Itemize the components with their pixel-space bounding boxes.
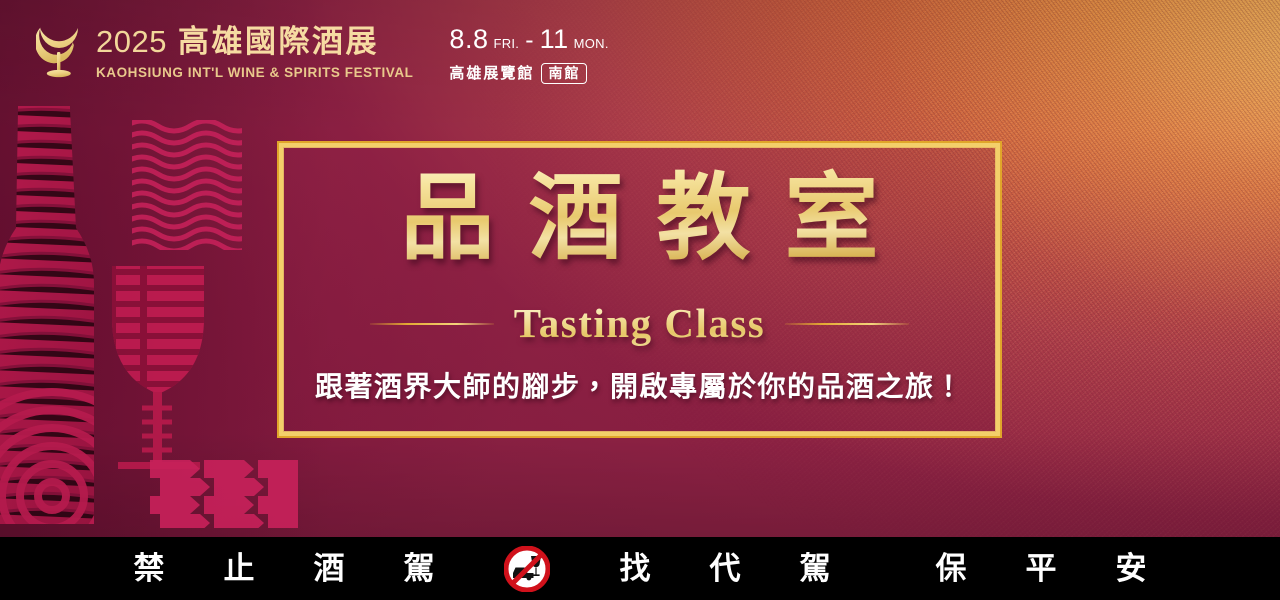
festival-date-venue: 8.8 FRI. - 11 MON. 高雄展覽館 南館 [449, 22, 608, 84]
tagline: 跟著酒界大師的腳步，開啟專屬於你的品酒之旅！ [279, 371, 1000, 405]
warning-char: 駕 [770, 553, 860, 584]
date-end-number: 11 [540, 26, 569, 53]
warning-char: 安 [1086, 553, 1176, 584]
warning-char: 禁 [104, 553, 194, 584]
festival-year: 2025 [96, 26, 167, 57]
crescent-wine-glass-icon [36, 22, 82, 80]
subtitle-en-row: Tasting Class [279, 301, 1000, 346]
venue-hall-badge: 南館 [541, 63, 587, 84]
warning-phrase-3: 保 平 安 [906, 553, 1176, 584]
main-content-panel: 品酒教室 Tasting Class 跟著酒界大師的腳步，開啟專屬於你的品酒之旅… [277, 141, 1002, 438]
page-title: 品酒教室 [279, 167, 1000, 272]
warning-char: 找 [590, 553, 680, 584]
divider-rule-left [370, 323, 494, 325]
date-start-number: 8.8 [449, 26, 488, 53]
date-separator: - [525, 28, 533, 53]
warning-char: 代 [680, 553, 770, 584]
warning-char: 止 [194, 553, 284, 584]
divider-rule-right [785, 323, 909, 325]
venue-name: 高雄展覽館 [449, 66, 534, 81]
warning-char: 平 [996, 553, 1086, 584]
warning-char: 駕 [374, 553, 464, 584]
warning-phrase-2: 找 代 駕 [590, 553, 860, 584]
no-drink-driving-icon [504, 546, 550, 592]
warning-phrase-1: 禁 止 酒 駕 [104, 553, 464, 584]
date-start-weekday: FRI. [493, 37, 519, 50]
warning-char: 酒 [284, 553, 374, 584]
festival-date-range: 8.8 FRI. - 11 MON. [449, 26, 608, 53]
festival-identity-header: 2025 高雄國際酒展 KAOHSIUNG INT'L WINE & SPIRI… [36, 22, 609, 84]
decorative-bottle-glass-artwork [0, 96, 300, 540]
date-end-weekday: MON. [574, 37, 609, 50]
subtitle-en: Tasting Class [514, 301, 766, 346]
warning-char: 保 [906, 553, 996, 584]
drink-driving-warning-bar: 禁 止 酒 駕 找 代 駕 保 平 安 [0, 537, 1280, 600]
brand-lockup: 2025 高雄國際酒展 KAOHSIUNG INT'L WINE & SPIRI… [96, 22, 413, 80]
venue-line: 高雄展覽館 南館 [449, 63, 608, 84]
festival-title-cn: 高雄國際酒展 [178, 26, 379, 57]
festival-title-en: KAOHSIUNG INT'L WINE & SPIRITS FESTIVAL [96, 66, 413, 80]
wine-festival-banner: 2025 高雄國際酒展 KAOHSIUNG INT'L WINE & SPIRI… [0, 0, 1280, 600]
